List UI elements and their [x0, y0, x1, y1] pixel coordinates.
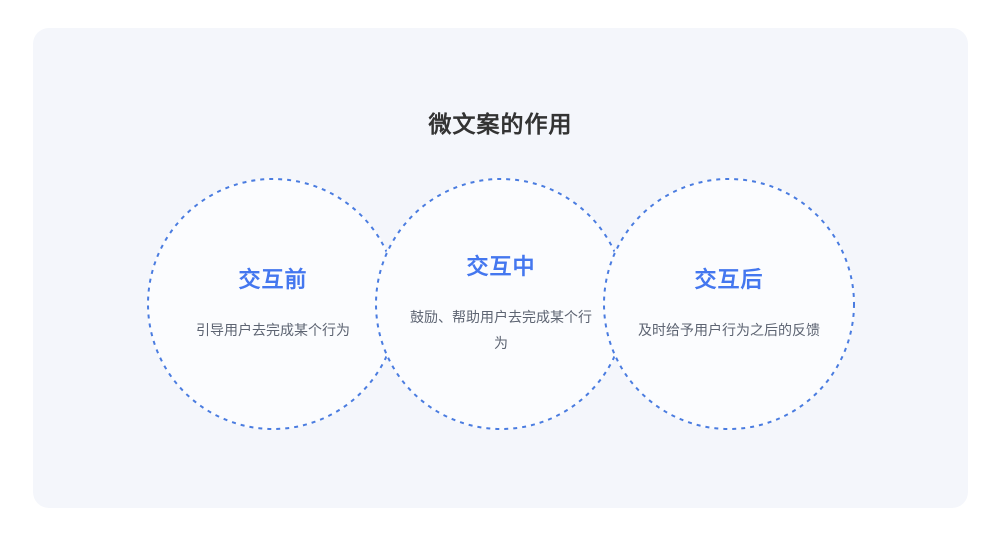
circle-heading: 交互后	[694, 265, 763, 295]
circle-before-interaction[interactable]: 交互前 引导用户去完成某个行为	[147, 178, 399, 430]
content-card: 微文案的作用 交互前 引导用户去完成某个行为 交互中 鼓励、帮助	[33, 28, 968, 508]
circle-heading: 交互前	[238, 265, 307, 295]
circle-content: 交互中 鼓励、帮助用户去完成某个行为	[375, 178, 627, 430]
circle-description: 引导用户去完成某个行为	[196, 317, 350, 343]
circle-content: 交互后 及时给予用户行为之后的反馈	[603, 178, 855, 430]
circle-group: 交互前 引导用户去完成某个行为 交互中 鼓励、帮助用户去完成某个行为	[147, 178, 855, 430]
circle-after-interaction[interactable]: 交互后 及时给予用户行为之后的反馈	[603, 178, 855, 430]
screenshot-stage: 微文案的作用 交互前 引导用户去完成某个行为 交互中 鼓励、帮助	[0, 0, 1000, 536]
page-title: 微文案的作用	[33, 108, 968, 140]
circle-content: 交互前 引导用户去完成某个行为	[147, 178, 399, 430]
circle-during-interaction[interactable]: 交互中 鼓励、帮助用户去完成某个行为	[375, 178, 627, 430]
circle-description: 及时给予用户行为之后的反馈	[638, 317, 820, 343]
circle-description: 鼓励、帮助用户去完成某个行为	[408, 304, 594, 356]
circle-heading: 交互中	[466, 252, 535, 282]
